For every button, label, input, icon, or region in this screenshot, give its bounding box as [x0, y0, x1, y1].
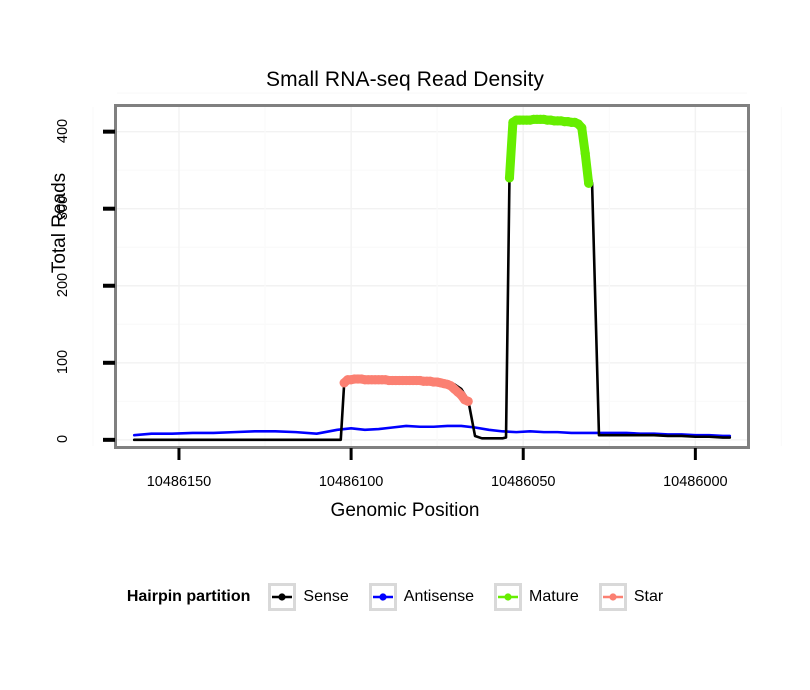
x-tick-label: 10486150 — [119, 474, 239, 490]
legend-label: Sense — [303, 588, 348, 606]
x-tick-label: 10486000 — [635, 474, 755, 490]
legend-item[interactable]: Antisense — [369, 583, 488, 611]
y-tick-label: 300 — [55, 178, 71, 238]
x-tick-label: 10486100 — [291, 474, 411, 490]
gridlines — [93, 93, 782, 446]
legend-label: Mature — [529, 588, 579, 606]
series-sense — [134, 119, 730, 440]
axis-ticks — [103, 132, 695, 460]
y-tick-label: 200 — [55, 255, 71, 315]
legend-item[interactable]: Mature — [494, 583, 593, 611]
series-mature — [505, 115, 593, 188]
data-series-layer — [134, 115, 730, 440]
legend-item[interactable]: Sense — [268, 583, 362, 611]
legend-label: Antisense — [404, 588, 474, 606]
legend-label: Star — [634, 588, 663, 606]
legend-key-icon — [599, 583, 627, 611]
y-tick-label: 400 — [55, 101, 71, 161]
y-tick-label: 100 — [55, 332, 71, 392]
y-tick-label: 0 — [55, 409, 71, 469]
x-tick-label: 10486050 — [463, 474, 583, 490]
plot-panel-border — [116, 106, 749, 448]
chart-figure: Small RNA-seq Read Density Total Reads G… — [0, 0, 810, 690]
legend-key-icon — [369, 583, 397, 611]
legend-key-icon — [494, 583, 522, 611]
legend-items: SenseAntisenseMatureStar — [268, 583, 683, 611]
legend-key-icon — [268, 583, 296, 611]
legend-item[interactable]: Star — [599, 583, 677, 611]
legend-title: Hairpin partition — [127, 588, 251, 606]
chart-legend: Hairpin partition SenseAntisenseMatureSt… — [0, 583, 810, 611]
